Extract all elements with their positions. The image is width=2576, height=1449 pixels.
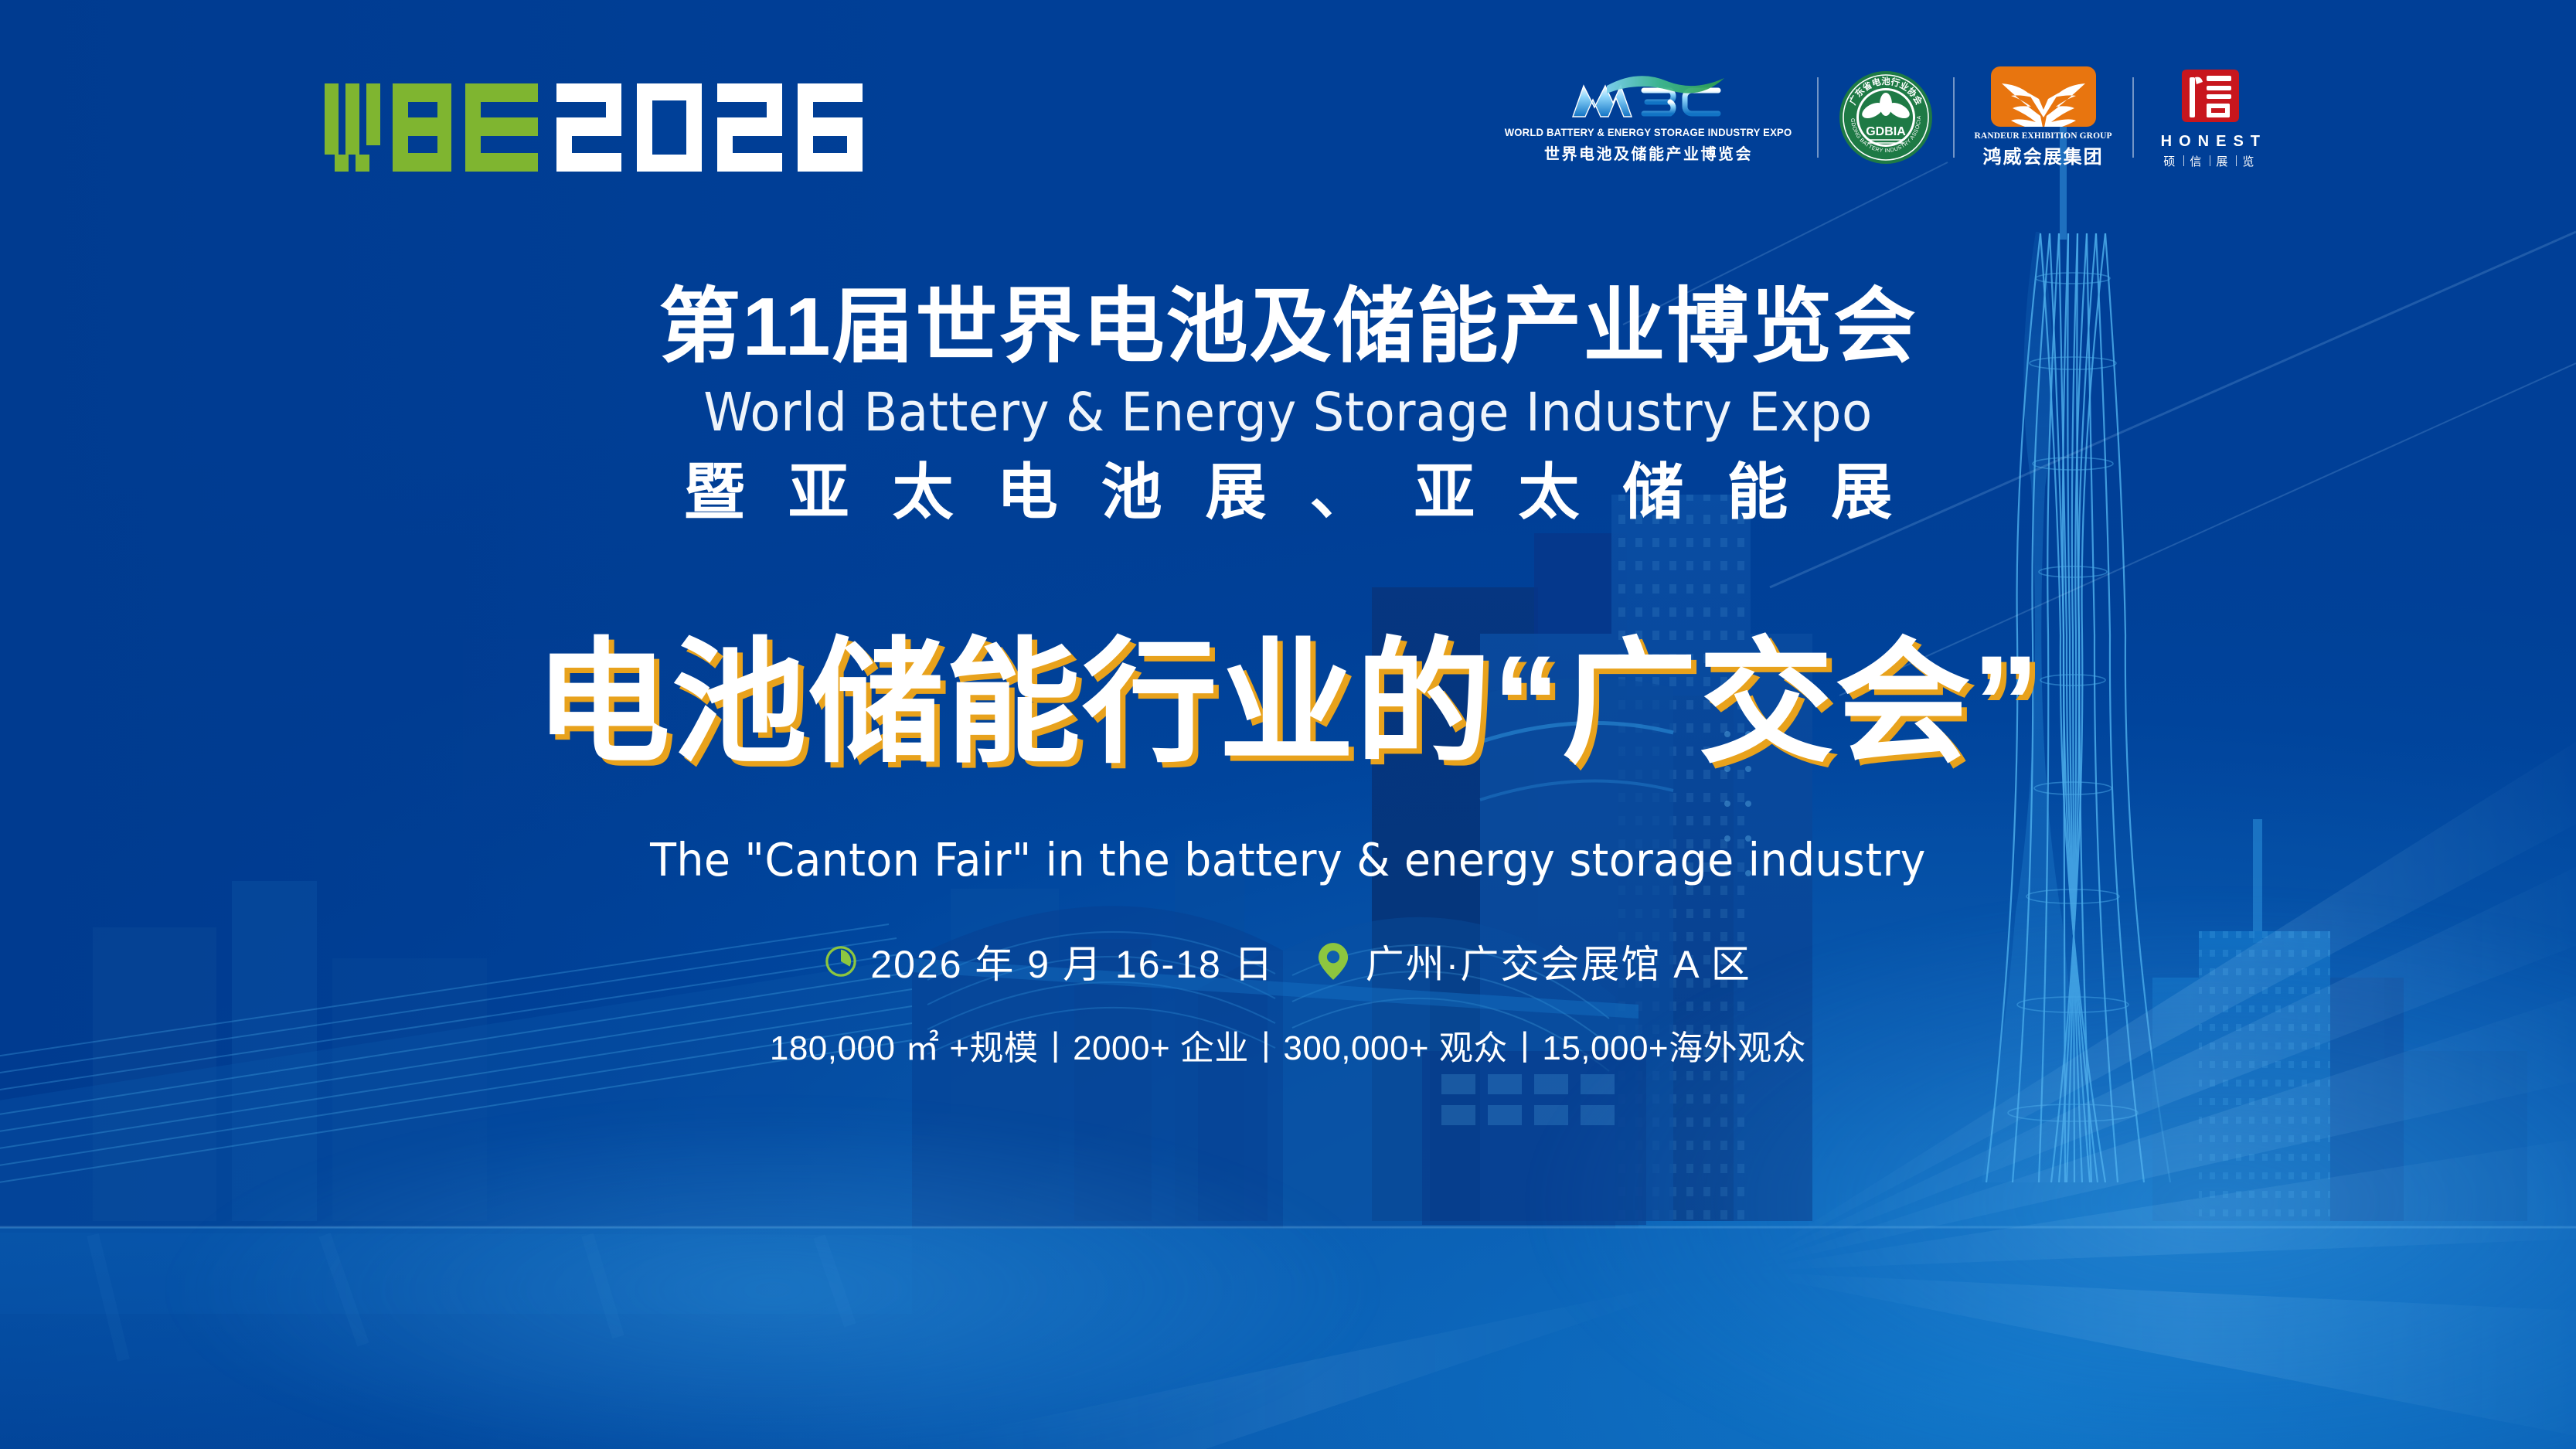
wbe-2026-logo bbox=[325, 83, 881, 172]
randeur-wings-icon bbox=[1991, 66, 2096, 127]
wbe-expo-en: WORLD BATTERY & ENERGY STORAGE INDUSTRY … bbox=[1505, 127, 1792, 138]
wbe-mark-icon bbox=[1567, 72, 1730, 123]
divider bbox=[2132, 77, 2134, 158]
honest-cn-1: 硕 bbox=[2163, 153, 2178, 169]
event-info-line: 2026 年 9 月 16-18 日 广州·广交会展馆 A 区 bbox=[0, 934, 2576, 989]
map-pin-icon bbox=[1317, 941, 1349, 981]
light-glow-left bbox=[52, 1073, 1494, 1449]
event-venue: 广州·广交会展馆 A 区 bbox=[1366, 934, 1751, 989]
stat-item-4: 15,000+海外观众 bbox=[1542, 1020, 1806, 1070]
light-glow bbox=[1417, 841, 2576, 1449]
gdbia-abbr: GDBIA bbox=[1866, 125, 1906, 138]
honest-cn-4: 览 bbox=[2242, 153, 2257, 169]
stat-sep: 丨 bbox=[1039, 1029, 1074, 1067]
headline-title-cn: 第11届世界电池及储能产业博览会 bbox=[0, 286, 2576, 368]
stat-item-3: 300,000+ 观众 bbox=[1283, 1020, 1507, 1070]
stat-item-1: 180,000 ㎡ +规模 bbox=[770, 1020, 1039, 1070]
gdbia-seal-icon: GDBIA 广东省电池行业协会 GUANGDONG BATTERY INDUST… bbox=[1839, 70, 1933, 165]
randeur-exhibition-group-logo: RANDEUR EXHIBITION GROUP 鸿威会展集团 bbox=[1975, 66, 2112, 168]
honest-cn-3: 展 bbox=[2216, 153, 2231, 169]
randeur-cn: 鸿威会展集团 bbox=[1983, 141, 2104, 168]
divider bbox=[1953, 77, 1955, 158]
wbe-wordmark-green bbox=[325, 83, 538, 172]
honest-cn-2: 信 bbox=[2190, 153, 2204, 169]
honest-exhibition-logo: HONEST 硕 信 展 览 bbox=[2154, 66, 2267, 169]
stat-item-2: 2000+ 企业 bbox=[1073, 1020, 1249, 1070]
event-date: 2026 年 9 月 16-18 日 bbox=[870, 934, 1274, 989]
honest-cn: 硕 信 展 览 bbox=[2163, 153, 2257, 169]
honest-seal-icon bbox=[2177, 66, 2244, 128]
slogan-cn: 电池储能行业的“广交会” bbox=[0, 636, 2576, 771]
wbe-expo-logo: WORLD BATTERY & ENERGY STORAGE INDUSTRY … bbox=[1500, 72, 1796, 164]
wbe-expo-cn: 世界电池及储能产业博览会 bbox=[1544, 141, 1753, 164]
stat-sep: 丨 bbox=[1249, 1029, 1284, 1067]
randeur-en: RANDEUR EXHIBITION GROUP bbox=[1975, 131, 2112, 141]
event-stats: 180,000 ㎡ +规模丨2000+ 企业丨300,000+ 观众丨15,00… bbox=[0, 1020, 2576, 1070]
wbe-year-white bbox=[556, 83, 863, 172]
event-poster: WORLD BATTERY & ENERGY STORAGE INDUSTRY … bbox=[0, 0, 2576, 1449]
divider bbox=[1817, 77, 1819, 158]
clock-icon bbox=[825, 945, 857, 978]
stat-sep: 丨 bbox=[1508, 1029, 1543, 1067]
slogan-en: The "Canton Fair" in the battery & energ… bbox=[77, 837, 2499, 883]
honest-en: HONEST bbox=[2154, 133, 2267, 151]
partner-logo-row: WORLD BATTERY & ENERGY STORAGE INDUSTRY … bbox=[1500, 71, 2267, 164]
poster-header: WORLD BATTERY & ENERGY STORAGE INDUSTRY … bbox=[0, 0, 2576, 193]
headline-title-en: World Battery & Energy Storage Industry … bbox=[90, 386, 2486, 440]
gdbia-seal: GDBIA 广东省电池行业协会 GUANGDONG BATTERY INDUST… bbox=[1839, 70, 1933, 165]
headline-subtitle-cn: 暨 亚 太 电 池 展 、 亚 太 储 能 展 bbox=[0, 461, 2576, 522]
